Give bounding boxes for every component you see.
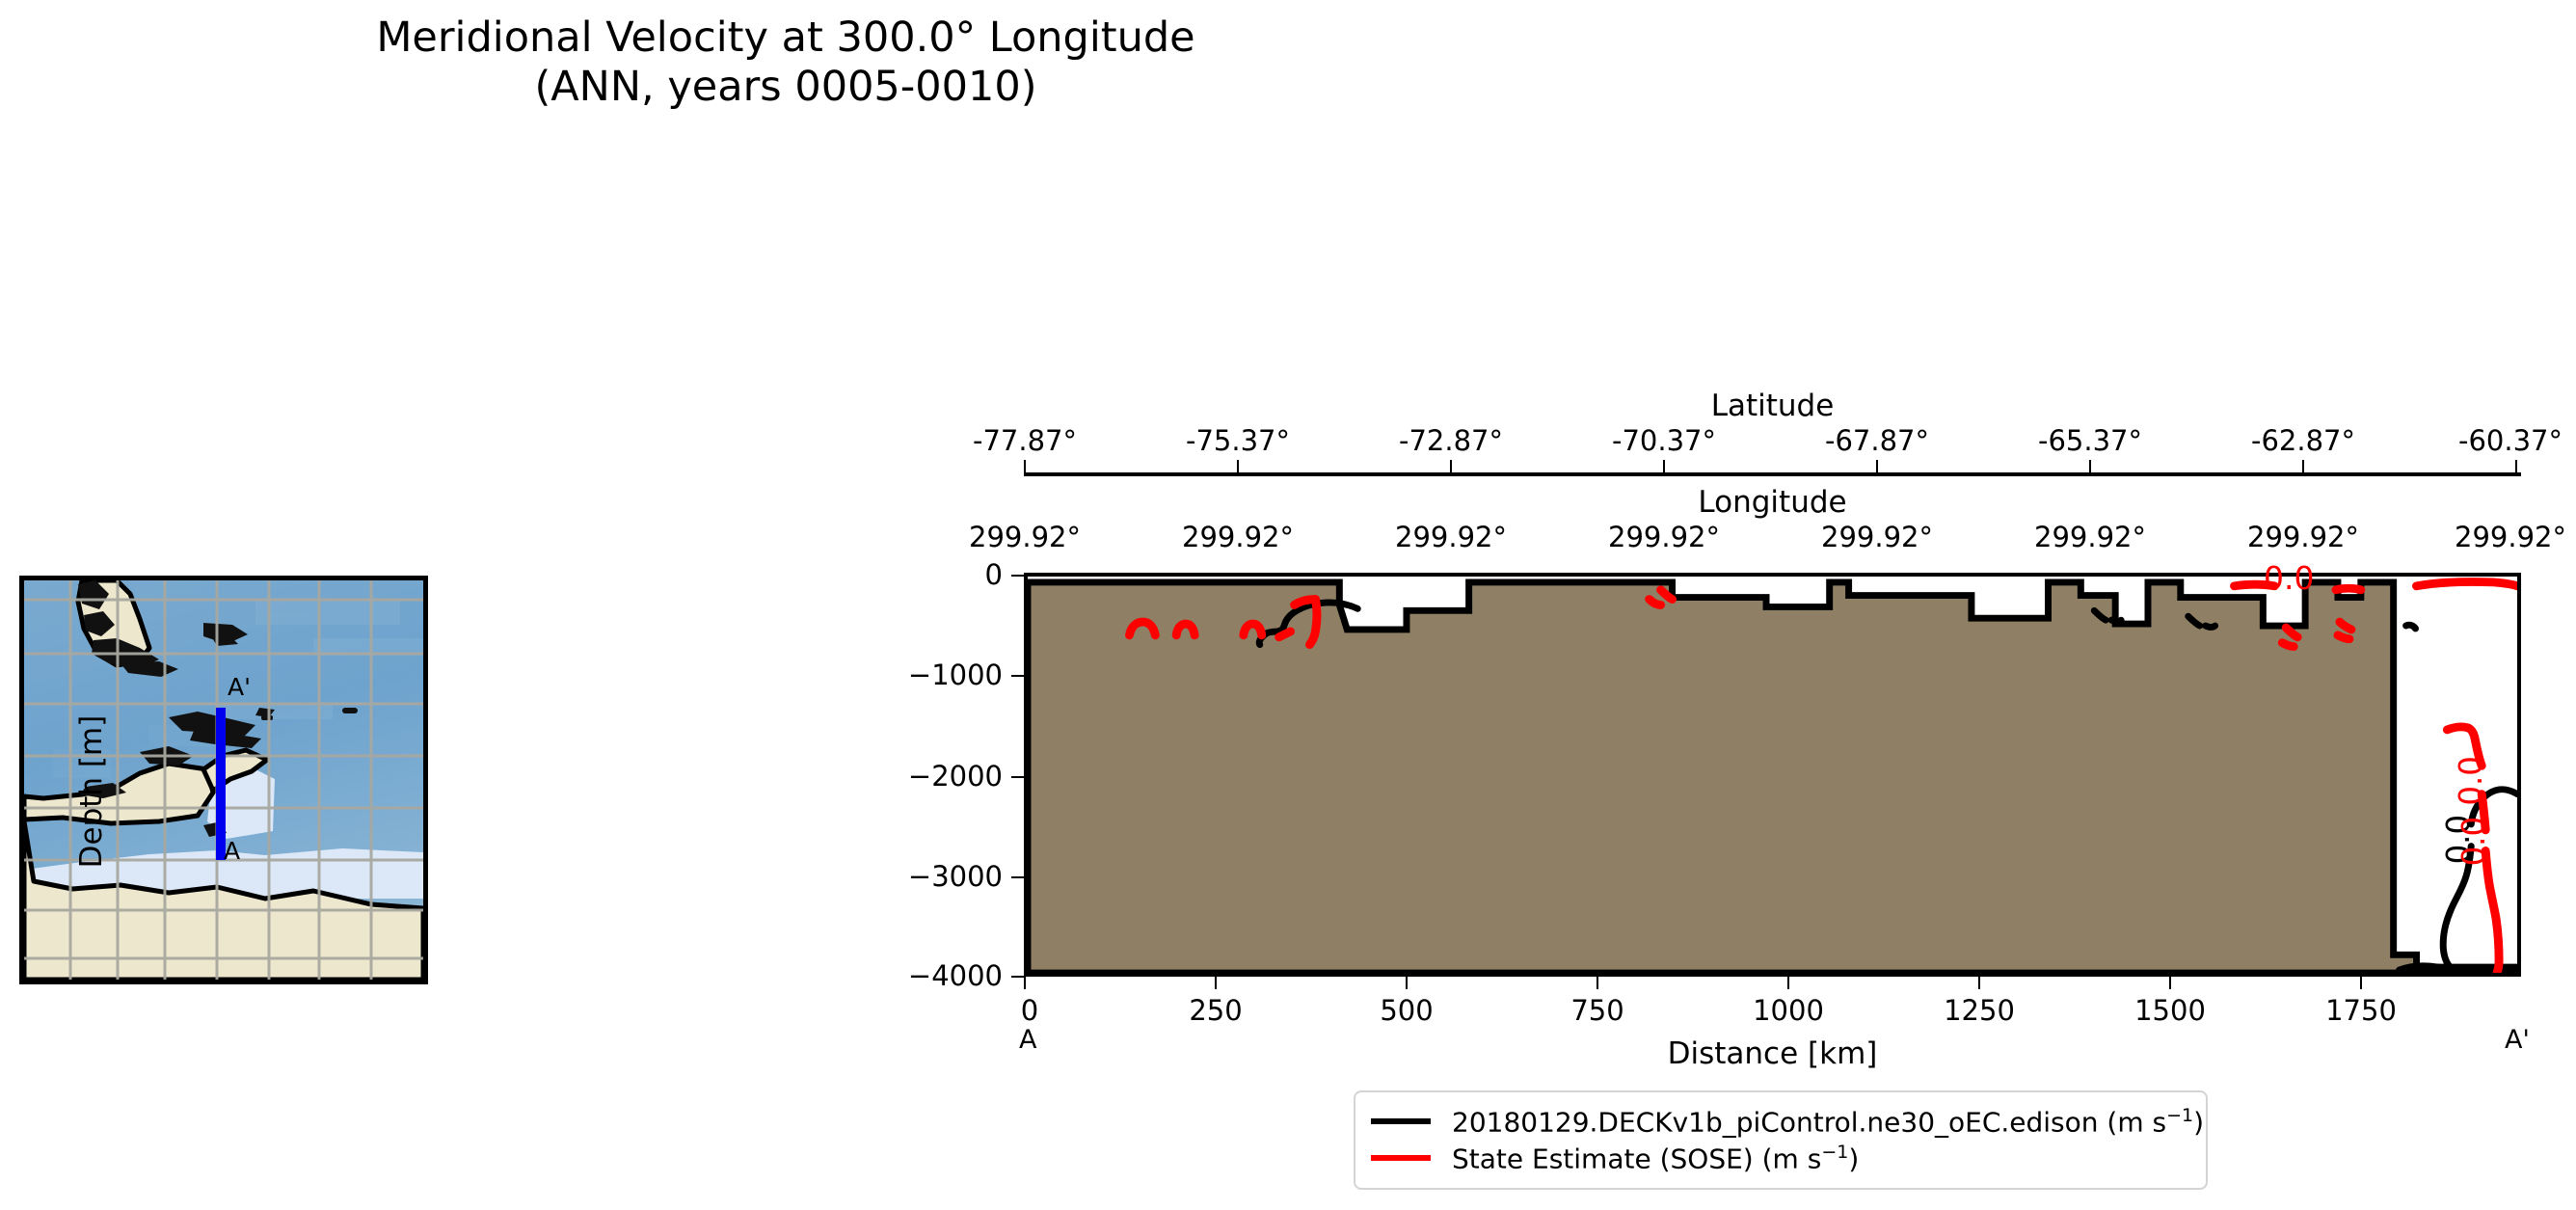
longitude-tick-label-6: 299.92° bbox=[2247, 521, 2359, 553]
latitude-axis-title: Latitude bbox=[1024, 389, 2521, 423]
sose-contour-label-1: 0.0 bbox=[2455, 817, 2492, 866]
bathymetry-fill bbox=[1028, 582, 2517, 973]
y-tick-4 bbox=[1011, 976, 1024, 978]
legend-item-model[interactable]: 20180129.DECKv1b_piControl.ne30_oEC.edis… bbox=[1371, 1103, 2190, 1140]
y-tick-label-0: 0 bbox=[848, 558, 1003, 591]
legend-label-model-unit: −1 bbox=[2166, 1105, 2193, 1126]
longitude-axis-title: Longitude bbox=[1024, 485, 2521, 520]
x-tick-label-0: 0 bbox=[1021, 994, 1038, 1027]
latitude-tick-label-3: -70.37° bbox=[1612, 424, 1716, 457]
longitude-tick-label-3: 299.92° bbox=[1608, 521, 1720, 553]
x-tick-label-5: 1250 bbox=[1944, 994, 2015, 1027]
latitude-tick-6 bbox=[2302, 460, 2304, 472]
latitude-tick-label-2: -72.87° bbox=[1399, 424, 1503, 457]
y-tick-label-3: −3000 bbox=[848, 860, 1003, 893]
x-tick-label-7: 1750 bbox=[2325, 994, 2397, 1027]
y-tick-label-4: −4000 bbox=[848, 959, 1003, 992]
longitude-tick-label-0: 299.92° bbox=[969, 521, 1081, 553]
y-tick-label-2: −2000 bbox=[848, 760, 1003, 793]
x-tick-1 bbox=[1215, 977, 1217, 989]
legend-label-model-text: 20180129.DECKv1b_piControl.ne30_oEC.edis… bbox=[1452, 1106, 2166, 1138]
x-axis-title: Distance [km] bbox=[1024, 1036, 2521, 1071]
x-tick-2 bbox=[1406, 977, 1408, 989]
latitude-tick-1 bbox=[1237, 460, 1239, 472]
x-tick-label-2: 500 bbox=[1380, 994, 1433, 1027]
x-tick-label-3: 750 bbox=[1570, 994, 1623, 1027]
legend: 20180129.DECKv1b_piControl.ne30_oEC.edis… bbox=[1354, 1090, 2208, 1190]
legend-label-model: 20180129.DECKv1b_piControl.ne30_oEC.edis… bbox=[1452, 1105, 2204, 1138]
latitude-tick-0 bbox=[1024, 460, 1026, 472]
legend-label-sose-unit: −1 bbox=[1821, 1142, 1848, 1163]
latitude-tick-3 bbox=[1663, 460, 1665, 472]
latitude-tick-2 bbox=[1450, 460, 1452, 472]
longitude-tick-label-5: 299.92° bbox=[2034, 521, 2146, 553]
latitude-tick-label-1: -75.37° bbox=[1186, 424, 1290, 457]
y-axis-title: Depth [m] bbox=[74, 647, 109, 936]
page-title: Meridional Velocity at 300.0° Longitude … bbox=[0, 13, 1571, 111]
longitude-tick-label-7: 299.92° bbox=[2455, 521, 2566, 553]
latitude-tick-5 bbox=[2089, 460, 2091, 472]
x-tick-7 bbox=[2360, 977, 2362, 989]
latitude-tick-label-7: -60.37° bbox=[2458, 424, 2563, 457]
cross-section-canvas: 0.0 bbox=[1028, 577, 2517, 973]
longitude-tick-label-1: 299.92° bbox=[1182, 521, 1294, 553]
y-tick-label-1: −1000 bbox=[848, 659, 1003, 691]
latitude-tick-label-0: -77.87° bbox=[973, 424, 1077, 457]
x-tick-0 bbox=[1024, 977, 1026, 989]
cross-section-plot: 0.0 bbox=[1024, 573, 2521, 977]
latitude-tick-label-6: -62.87° bbox=[2251, 424, 2355, 457]
x-tick-label-4: 1000 bbox=[1753, 994, 1824, 1027]
y-tick-3 bbox=[1011, 876, 1024, 878]
inset-endpoint-label-a-prime: A' bbox=[228, 673, 251, 701]
sose-contour-label-surface: 0.0 bbox=[2264, 559, 2314, 597]
inset-endpoint-label-a: A bbox=[224, 837, 240, 865]
longitude-tick-label-2: 299.92° bbox=[1395, 521, 1507, 553]
y-tick-0 bbox=[1011, 575, 1024, 577]
latitude-tick-7 bbox=[2515, 460, 2517, 472]
y-tick-2 bbox=[1011, 776, 1024, 778]
longitude-tick-label-4: 299.92° bbox=[1821, 521, 1933, 553]
x-tick-5 bbox=[1978, 977, 1980, 989]
latitude-tick-4 bbox=[1876, 460, 1878, 472]
x-tick-label-6: 1500 bbox=[2134, 994, 2206, 1027]
x-tick-4 bbox=[1787, 977, 1789, 989]
legend-label-sose-text: State Estimate (SOSE) (m s bbox=[1452, 1143, 1821, 1174]
legend-item-sose[interactable]: State Estimate (SOSE) (m s−1) bbox=[1371, 1140, 2190, 1176]
y-tick-1 bbox=[1011, 675, 1024, 677]
latitude-axis-line bbox=[1024, 472, 2521, 476]
legend-label-sose-tail: ) bbox=[1848, 1143, 1859, 1174]
legend-swatch-model-line bbox=[1371, 1118, 1431, 1124]
latitude-tick-label-4: -67.87° bbox=[1825, 424, 1929, 457]
latitude-tick-label-5: -65.37° bbox=[2038, 424, 2142, 457]
legend-label-sose: State Estimate (SOSE) (m s−1) bbox=[1452, 1142, 1859, 1174]
x-tick-3 bbox=[1597, 977, 1598, 989]
legend-label-model-tail: ) bbox=[2193, 1106, 2204, 1138]
x-tick-label-1: 250 bbox=[1189, 994, 1242, 1027]
x-tick-6 bbox=[2169, 977, 2171, 989]
sose-contour-label-0: 0.0 bbox=[2453, 756, 2489, 805]
legend-swatch-sose-line bbox=[1371, 1155, 1431, 1161]
